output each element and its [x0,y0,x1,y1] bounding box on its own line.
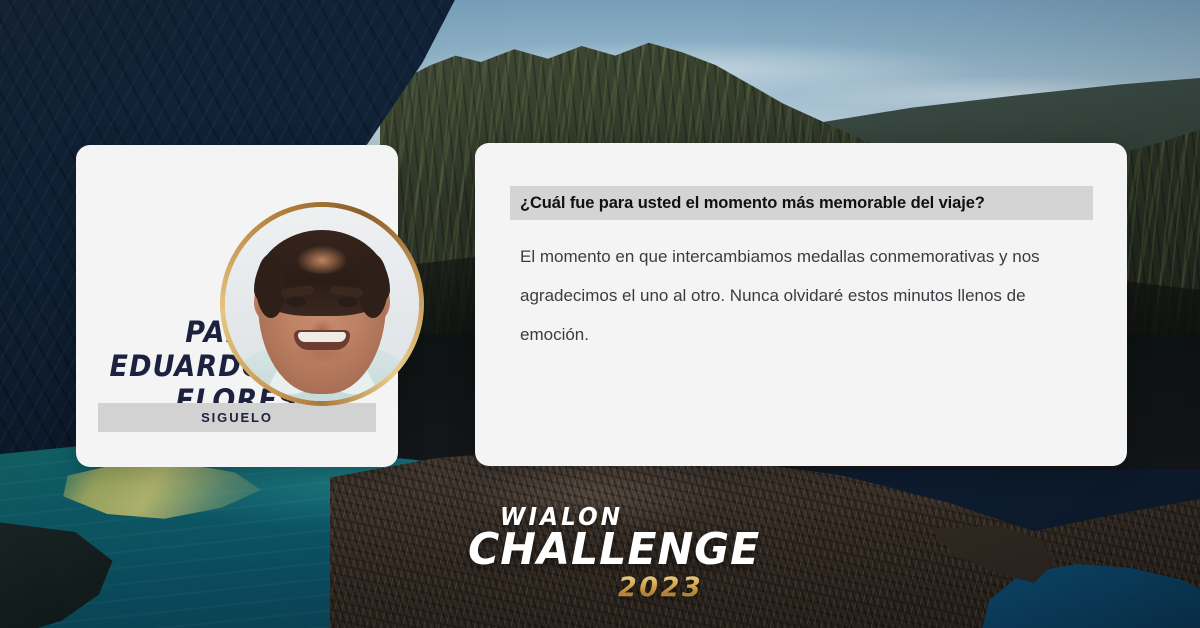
avatar [225,207,419,401]
wialon-challenge-logo: WIALON CHALLENGE 2023 [466,500,766,592]
promo-card-stage: PABLO EDUARDO SOTO FLORES SIGUELO ¿Cuál … [0,0,1200,628]
follow-button[interactable]: SIGUELO [98,403,376,432]
avatar-ring [220,202,424,406]
logo-year-text: 2023 [618,572,703,603]
avatar-mouth [294,330,350,350]
answer-card: ¿Cuál fue para usted el momento más memo… [475,143,1127,466]
avatar-sideburn-right [358,254,388,318]
profile-card: PABLO EDUARDO SOTO FLORES SIGUELO [76,145,398,467]
avatar-teeth [298,332,346,342]
question-text: ¿Cuál fue para usted el momento más memo… [520,194,985,213]
avatar-forehead [291,240,353,274]
answer-body-text: El momento en que intercambiamos medalla… [520,237,1090,354]
question-bar: ¿Cuál fue para usted el momento más memo… [510,186,1093,220]
avatar-sideburn-left [256,254,286,318]
logo-event-text: CHALLENGE [468,524,760,575]
